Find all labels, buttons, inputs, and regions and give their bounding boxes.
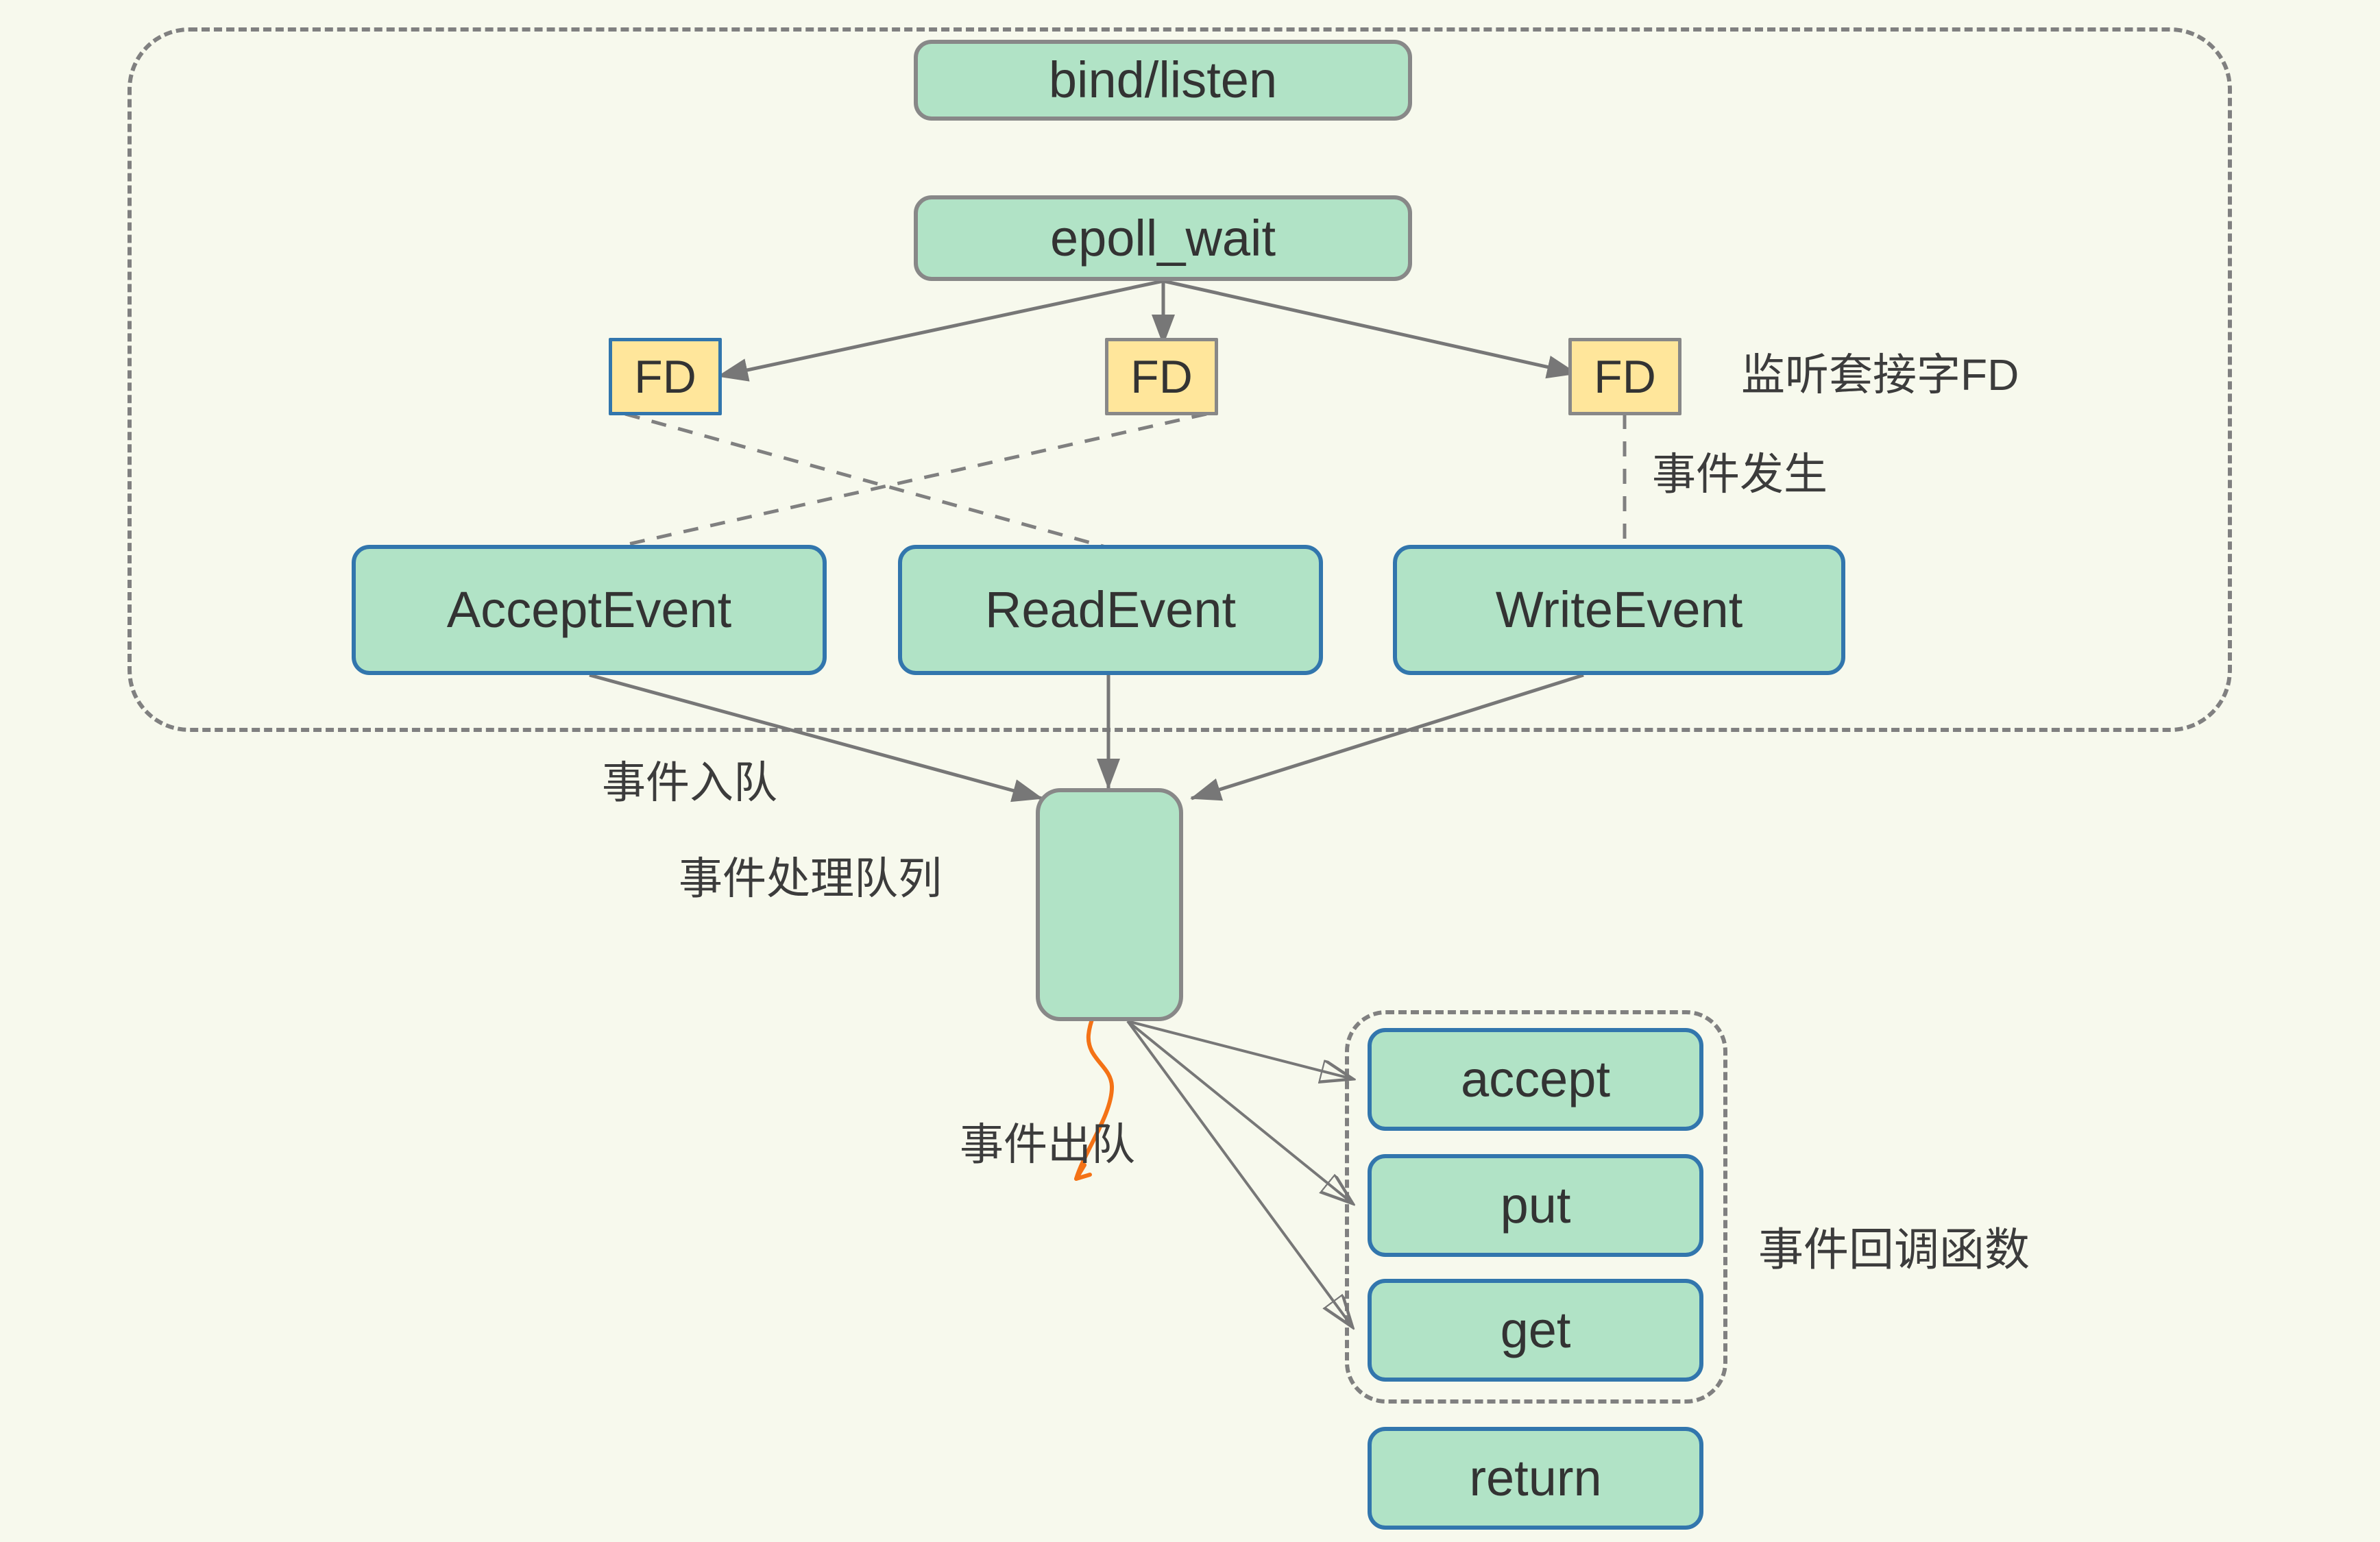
- label-event-enqueue-text: 事件入队: [602, 758, 777, 807]
- node-read-event[interactable]: ReadEvent: [898, 545, 1323, 675]
- node-accept-event-label: AcceptEvent: [447, 585, 731, 635]
- node-accept-label: accept: [1461, 1054, 1610, 1105]
- label-event-dequeue: 事件出队: [960, 1123, 1135, 1166]
- label-event-queue: 事件处理队列: [679, 857, 942, 901]
- label-event-occurs: 事件发生: [1652, 452, 1827, 496]
- diagram-canvas: bind/listen epoll_wait FD FD FD AcceptEv…: [0, 0, 2380, 1542]
- node-event-queue[interactable]: [1036, 788, 1183, 1021]
- node-get-label: get: [1501, 1305, 1571, 1356]
- label-event-dequeue-text: 事件出队: [960, 1120, 1135, 1169]
- node-epoll-wait-label: epoll_wait: [1050, 213, 1276, 264]
- node-accept[interactable]: accept: [1368, 1028, 1703, 1131]
- node-put-label: put: [1501, 1180, 1571, 1231]
- node-put[interactable]: put: [1368, 1154, 1703, 1257]
- node-bind-listen[interactable]: bind/listen: [914, 40, 1412, 121]
- node-get[interactable]: get: [1368, 1279, 1703, 1382]
- node-fd-mid[interactable]: FD: [1105, 338, 1218, 415]
- node-fd-left-label: FD: [634, 354, 696, 400]
- edge-queue-get: [1128, 1021, 1352, 1326]
- label-event-enqueue: 事件入队: [602, 761, 777, 805]
- label-listen-socket-fd-text: 监听套接字FD: [1741, 350, 2019, 400]
- node-read-event-label: ReadEvent: [985, 585, 1236, 635]
- label-event-queue-text: 事件处理队列: [679, 854, 942, 903]
- node-return-label: return: [1469, 1453, 1601, 1504]
- node-fd-right[interactable]: FD: [1568, 338, 1681, 415]
- node-fd-left[interactable]: FD: [609, 338, 722, 415]
- node-write-event-label: WriteEvent: [1496, 585, 1743, 635]
- node-bind-listen-label: bind/listen: [1049, 55, 1277, 106]
- node-epoll-wait[interactable]: epoll_wait: [914, 195, 1412, 281]
- label-listen-socket-fd: 监听套接字FD: [1741, 353, 2019, 397]
- label-event-callbacks-text: 事件回调函数: [1758, 1224, 2030, 1275]
- node-fd-mid-label: FD: [1130, 354, 1193, 400]
- node-write-event[interactable]: WriteEvent: [1393, 545, 1845, 675]
- label-event-occurs-text: 事件发生: [1652, 450, 1827, 499]
- node-accept-event[interactable]: AcceptEvent: [352, 545, 827, 675]
- edge-queue-put: [1128, 1021, 1352, 1203]
- node-fd-right-label: FD: [1594, 354, 1656, 400]
- node-return[interactable]: return: [1368, 1427, 1703, 1530]
- edge-queue-accept: [1128, 1021, 1352, 1079]
- label-event-callbacks: 事件回调函数: [1758, 1227, 2030, 1272]
